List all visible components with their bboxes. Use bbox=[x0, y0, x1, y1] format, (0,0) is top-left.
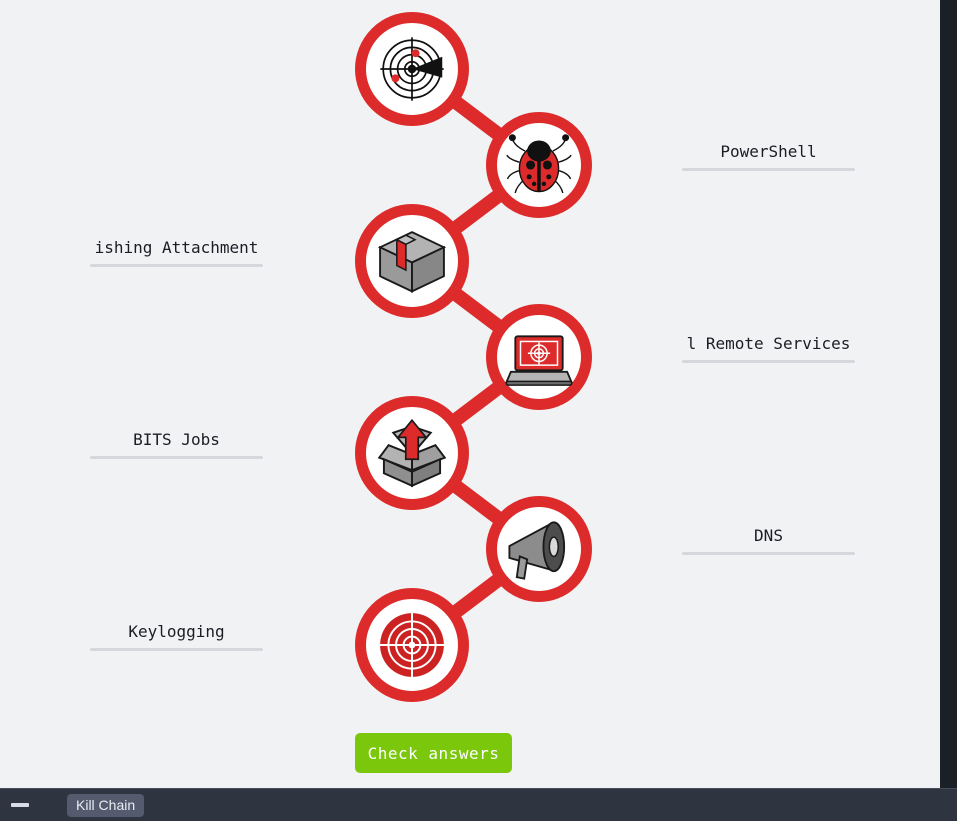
minimize-icon[interactable] bbox=[11, 803, 29, 807]
answer-slot-right-1[interactable]: PowerShell bbox=[682, 142, 855, 171]
answer-slot-left-3-rule bbox=[90, 648, 263, 651]
bullseye-icon bbox=[374, 607, 450, 683]
check-answers-button[interactable]: Check answers bbox=[355, 733, 512, 773]
kill-chain-node-7[interactable] bbox=[355, 588, 469, 702]
kill-chain-node-1[interactable] bbox=[355, 12, 469, 126]
answer-slot-left-3[interactable]: Keylogging bbox=[90, 622, 263, 651]
megaphone-icon bbox=[502, 512, 576, 586]
window-right-border bbox=[940, 0, 957, 788]
answer-slot-left-1-rule bbox=[90, 264, 263, 267]
package-box-icon bbox=[374, 223, 450, 299]
kill-chain-canvas: ishing Attachment BITS Jobs Keylogging P… bbox=[0, 0, 940, 788]
answer-slot-left-2-label: BITS Jobs bbox=[90, 430, 263, 450]
node-connector-lines bbox=[0, 0, 940, 788]
laptop-target-icon bbox=[502, 320, 576, 394]
kill-chain-node-2[interactable] bbox=[486, 112, 592, 218]
answer-slot-left-1[interactable]: ishing Attachment bbox=[90, 238, 263, 267]
answer-slot-right-1-rule bbox=[682, 168, 855, 171]
answer-slot-left-2[interactable]: BITS Jobs bbox=[90, 430, 263, 459]
answer-slot-right-2[interactable]: l Remote Services bbox=[682, 334, 855, 363]
answer-slot-right-1-label: PowerShell bbox=[682, 142, 855, 162]
kill-chain-node-5[interactable] bbox=[355, 396, 469, 510]
answer-slot-left-2-rule bbox=[90, 456, 263, 459]
answer-slot-left-3-label: Keylogging bbox=[90, 622, 263, 642]
kill-chain-node-3[interactable] bbox=[355, 204, 469, 318]
answer-slot-right-3-rule bbox=[682, 552, 855, 555]
answer-slot-right-2-label: l Remote Services bbox=[682, 334, 855, 354]
kill-chain-node-6[interactable] bbox=[486, 496, 592, 602]
answer-slot-right-3-label: DNS bbox=[682, 526, 855, 546]
answer-slot-right-2-rule bbox=[682, 360, 855, 363]
taskbar-window-button-kill-chain[interactable]: Kill Chain bbox=[67, 794, 144, 817]
kill-chain-node-4[interactable] bbox=[486, 304, 592, 410]
answer-slot-right-3[interactable]: DNS bbox=[682, 526, 855, 555]
radar-icon bbox=[376, 33, 448, 105]
ladybug-icon bbox=[504, 130, 574, 200]
answer-slot-left-1-label: ishing Attachment bbox=[90, 238, 263, 258]
open-box-arrow-icon bbox=[373, 414, 451, 492]
taskbar: Kill Chain bbox=[0, 788, 957, 821]
